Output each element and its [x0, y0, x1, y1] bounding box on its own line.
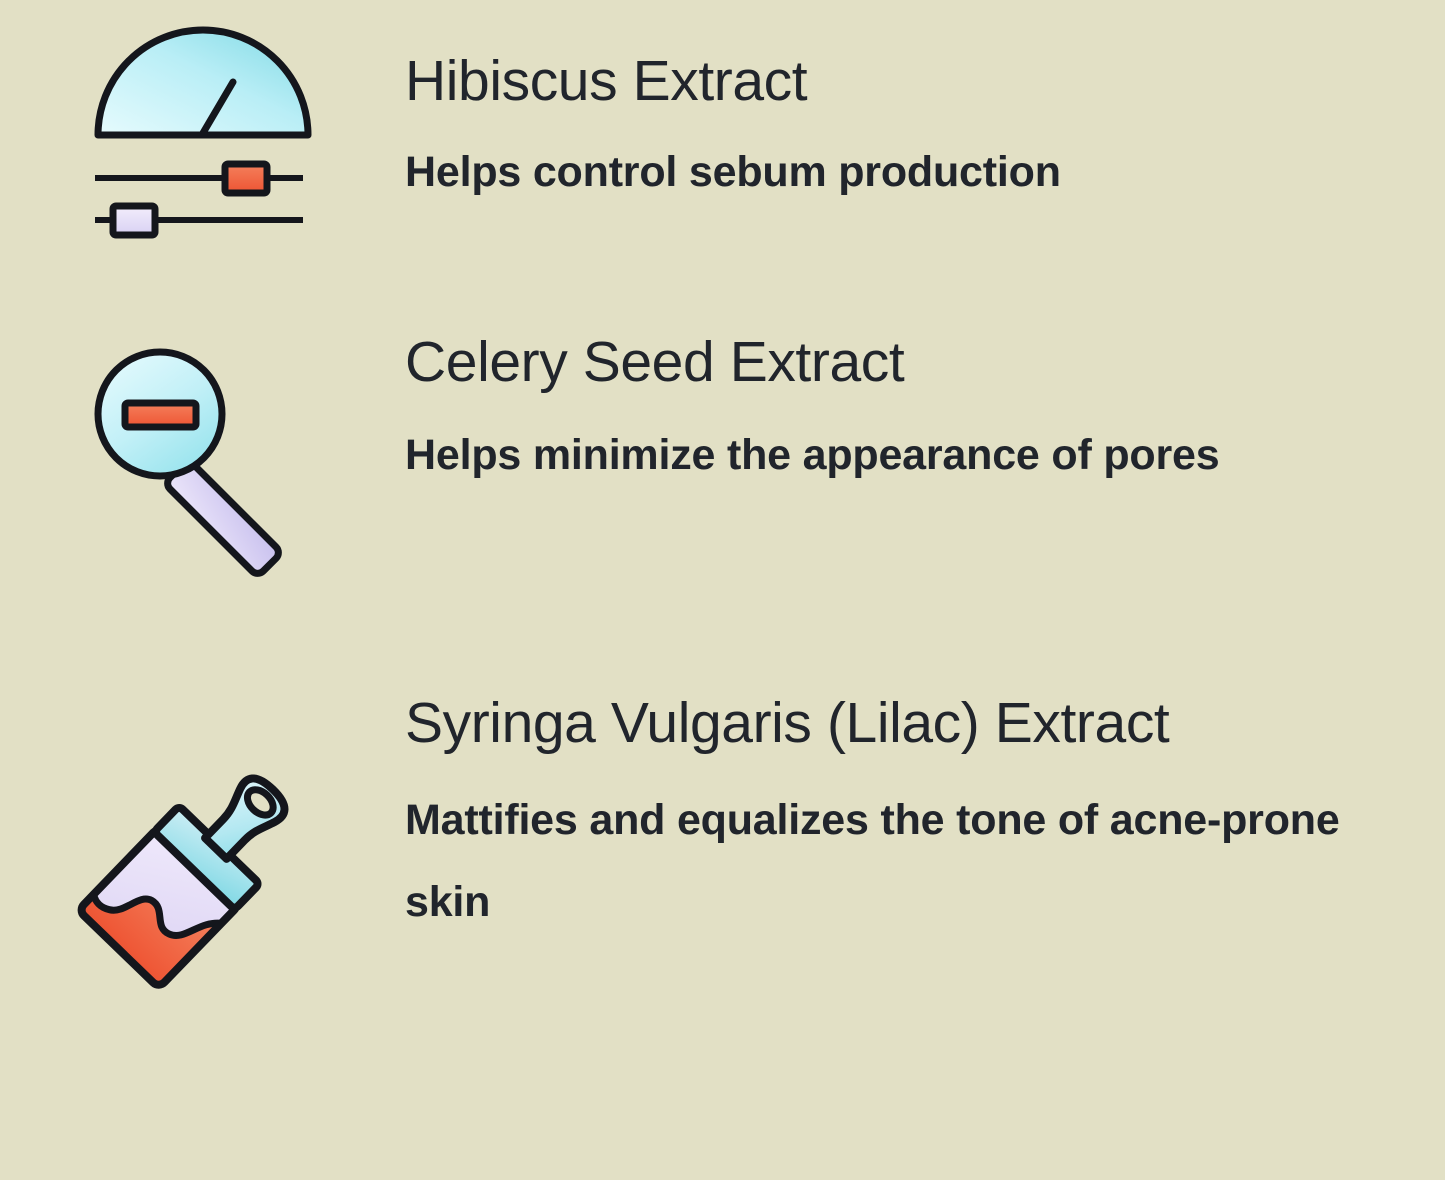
ingredient-text-block: Celery Seed Extract Helps minimize the a…: [405, 325, 1345, 497]
magnifier-minus-icon: [75, 332, 315, 567]
magnifier-lens: [98, 352, 222, 476]
ingredient-title: Syringa Vulgaris (Lilac) Extract: [405, 686, 1345, 760]
gauge-sliders-icon: [75, 14, 315, 239]
slider-track-upper[interactable]: [95, 164, 303, 193]
ingredient-description: Helps minimize the appearance of pores: [405, 415, 1345, 497]
paintbrush-icon: [75, 752, 315, 987]
magnifier-handle: [164, 459, 281, 576]
minus-bar-icon: [125, 403, 196, 427]
ingredient-text-block: Syringa Vulgaris (Lilac) Extract Mattifi…: [405, 686, 1345, 943]
ingredient-title: Hibiscus Extract: [405, 44, 1345, 118]
ingredient-title: Celery Seed Extract: [405, 325, 1345, 399]
slider-handle-orange: [225, 164, 267, 193]
gauge-dial: [98, 30, 308, 135]
ingredient-benefits-page: Hibiscus Extract Helps control sebum pro…: [0, 0, 1445, 1180]
slider-handle-lavender: [113, 206, 155, 235]
ingredient-description: Mattifies and equalizes the tone of acne…: [405, 780, 1345, 943]
ingredient-description: Helps control sebum production: [405, 132, 1345, 214]
slider-track-lower[interactable]: [95, 206, 303, 235]
ingredient-text-block: Hibiscus Extract Helps control sebum pro…: [405, 44, 1345, 214]
